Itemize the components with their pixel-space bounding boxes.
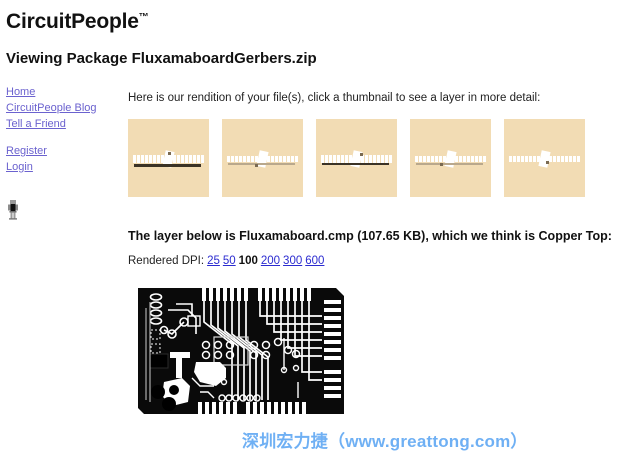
dpi-option-50[interactable]: 50	[223, 255, 236, 267]
dpi-option-300[interactable]: 300	[283, 255, 302, 267]
dpi-selector: Rendered DPI:2550100200300600	[128, 255, 324, 267]
person-figure-icon	[5, 200, 21, 220]
thumbnail-speck	[168, 152, 171, 155]
sidebar-link-tell-a-friend[interactable]: Tell a Friend	[6, 116, 118, 132]
thumbnail-trace	[228, 163, 295, 165]
sidebar-link-home[interactable]: Home	[6, 84, 118, 100]
layer-thumbnail-4[interactable]	[410, 119, 491, 197]
layer-thumbnail-2[interactable]	[222, 119, 303, 197]
sidebar-separator	[6, 132, 118, 143]
layer-thumbnail-5[interactable]	[504, 119, 585, 197]
thumbnail-trace	[322, 163, 389, 165]
layer-thumbnail-1[interactable]	[128, 119, 209, 197]
site-brand-name: CircuitPeople	[6, 10, 139, 33]
sidebar-link-register[interactable]: Register	[6, 143, 118, 159]
sidebar-link-blog[interactable]: CircuitPeople Blog	[6, 100, 118, 116]
layer-thumbnail-strip	[128, 119, 585, 197]
thumbnail-speck	[360, 153, 363, 156]
intro-text: Here is our rendition of your file(s), c…	[128, 92, 540, 104]
thumbnail-notch	[256, 150, 268, 168]
thumbnail-notch	[444, 150, 456, 168]
sidebar-link-login[interactable]: Login	[6, 159, 118, 175]
thumbnail-trace	[134, 164, 201, 167]
dpi-option-25[interactable]: 25	[207, 255, 220, 267]
thumbnail-speck	[440, 163, 443, 166]
thumbnail-speck	[546, 161, 549, 164]
pcb-layer-render[interactable]	[136, 282, 346, 421]
thumbnail-trace	[416, 163, 483, 165]
dpi-label: Rendered DPI:	[128, 255, 204, 267]
dpi-option-600[interactable]: 600	[305, 255, 324, 267]
thumbnail-speck	[255, 164, 258, 167]
dpi-option-100-selected[interactable]: 100	[239, 255, 258, 267]
main-content: Here is our rendition of your file(s), c…	[128, 0, 620, 453]
layer-thumbnail-3[interactable]	[316, 119, 397, 197]
layer-description-heading: The layer below is Fluxamaboard.cmp (107…	[128, 229, 612, 243]
dpi-option-200[interactable]: 200	[261, 255, 280, 267]
thumbnail-notch	[538, 150, 550, 168]
sidebar-nav: Home CircuitPeople Blog Tell a Friend Re…	[6, 84, 118, 175]
watermark-text: 深圳宏力捷（www.greattong.com）	[242, 427, 528, 452]
